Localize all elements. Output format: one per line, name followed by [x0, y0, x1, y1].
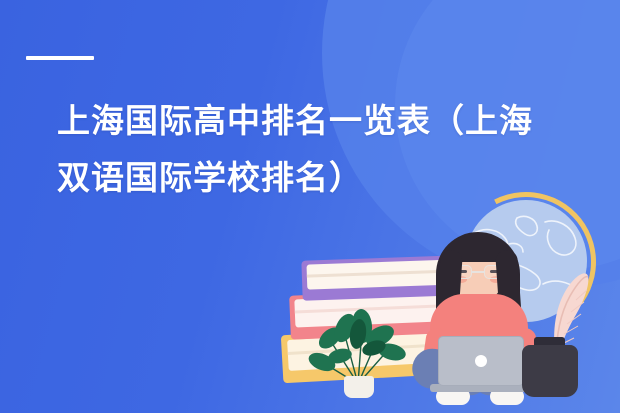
plant-pot — [344, 376, 374, 398]
promo-banner: 上海国际高中排名一览表（上海 双语国际学校排名） — [0, 0, 620, 413]
glasses-bridge — [472, 271, 484, 273]
laptop-logo-icon — [475, 355, 487, 367]
inkpot — [522, 345, 578, 397]
illustration — [0, 0, 620, 413]
laptop — [438, 336, 524, 386]
